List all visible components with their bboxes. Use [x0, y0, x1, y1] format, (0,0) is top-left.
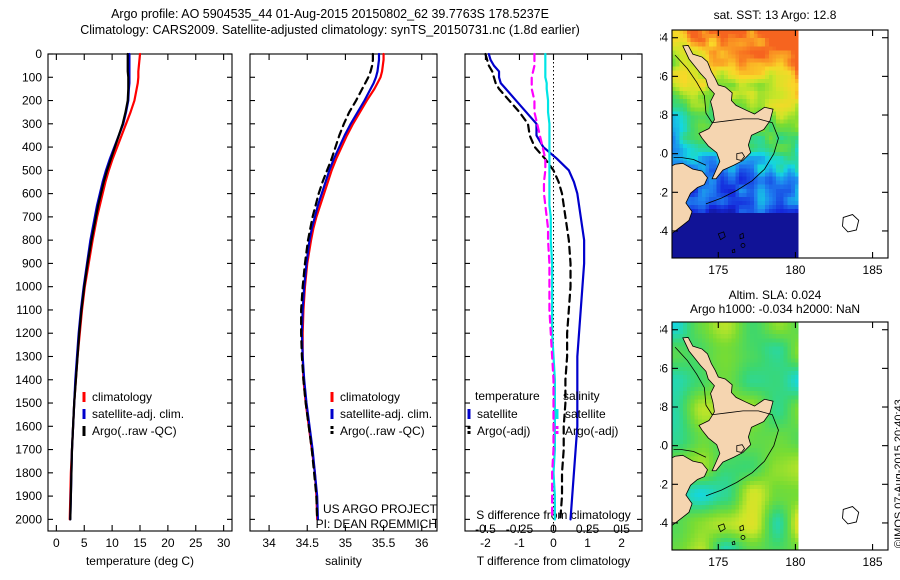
- svg-text:temperature (deg C): temperature (deg C): [86, 554, 194, 568]
- svg-text:Argo(-adj): Argo(-adj): [565, 424, 618, 438]
- svg-text:-40: -40: [660, 439, 668, 453]
- svg-text:climatology: climatology: [92, 390, 152, 404]
- svg-text:-44: -44: [660, 224, 668, 238]
- svg-text:satellite: satellite: [477, 407, 518, 421]
- salinity-panel: 3434.53535.536salinityclimatologysatelli…: [240, 40, 455, 580]
- svg-text:0: 0: [35, 47, 42, 61]
- temperature-plot: 0100200300400500600700800900100011001200…: [0, 40, 240, 580]
- sla-map: 175180185-34-36-38-40-42-44: [660, 318, 900, 573]
- svg-text:-40: -40: [660, 147, 668, 161]
- svg-text:200: 200: [22, 94, 42, 108]
- svg-text:25: 25: [189, 536, 203, 550]
- svg-text:5: 5: [81, 536, 88, 550]
- sla-title-line-2: Argo h1000: -0.034 h2000: NaN: [660, 302, 890, 316]
- svg-text:-42: -42: [660, 477, 668, 491]
- argo-profile-figure: Argo profile: AO 5904535_44 01-Aug-2015 …: [0, 0, 900, 580]
- svg-text:1500: 1500: [15, 396, 42, 410]
- sla-map-panel: Altim. SLA: 0.024 Argo h1000: -0.034 h20…: [660, 288, 900, 580]
- svg-text:2000: 2000: [15, 512, 42, 526]
- svg-text:1400: 1400: [15, 373, 42, 387]
- difference-plot: -2-1012S difference from climatology-0.5…: [455, 40, 660, 580]
- svg-text:700: 700: [22, 210, 42, 224]
- svg-text:500: 500: [22, 163, 42, 177]
- svg-text:1: 1: [584, 536, 591, 550]
- svg-text:-36: -36: [660, 361, 668, 375]
- svg-text:-42: -42: [660, 185, 668, 199]
- svg-text:300: 300: [22, 117, 42, 131]
- svg-text:1900: 1900: [15, 489, 42, 503]
- svg-text:10: 10: [105, 536, 119, 550]
- svg-text:1200: 1200: [15, 326, 42, 340]
- svg-text:30: 30: [217, 536, 231, 550]
- title-line-2: Climatology: CARS2009. Satellite-adjuste…: [0, 22, 660, 38]
- svg-text:T difference from climatology: T difference from climatology: [477, 554, 631, 568]
- svg-text:-34: -34: [660, 31, 668, 45]
- svg-text:satellite-adj. clim.: satellite-adj. clim.: [92, 407, 184, 421]
- temperature-panel: 0100200300400500600700800900100011001200…: [0, 40, 240, 580]
- svg-text:36: 36: [415, 536, 429, 550]
- svg-text:satellite: satellite: [565, 407, 606, 421]
- svg-text:-38: -38: [660, 108, 668, 122]
- svg-text:15: 15: [133, 536, 147, 550]
- svg-text:180: 180: [785, 263, 805, 277]
- svg-text:100: 100: [22, 70, 42, 84]
- svg-text:-34: -34: [660, 323, 668, 337]
- svg-text:salinity: salinity: [563, 389, 600, 403]
- difference-panel: -2-1012S difference from climatology-0.5…: [455, 40, 660, 580]
- svg-text:0.5: 0.5: [613, 522, 630, 536]
- svg-text:-0.25: -0.25: [506, 522, 534, 536]
- svg-text:20: 20: [161, 536, 175, 550]
- sla-title-line-1: Altim. SLA: 0.024: [660, 288, 890, 302]
- svg-text:175: 175: [708, 555, 728, 569]
- title-line-1: Argo profile: AO 5904535_44 01-Aug-2015 …: [0, 6, 660, 22]
- sst-map: 175180185-34-36-38-40-42-44: [660, 26, 900, 286]
- imos-credit: ©IMOS 07-Aug-2015 20:40:43: [893, 399, 900, 548]
- svg-text:Argo(..raw -QC): Argo(..raw -QC): [340, 424, 425, 438]
- svg-text:35.5: 35.5: [372, 536, 396, 550]
- svg-text:1100: 1100: [16, 303, 42, 317]
- svg-text:400: 400: [22, 140, 42, 154]
- svg-text:1000: 1000: [15, 280, 42, 294]
- svg-text:600: 600: [22, 187, 42, 201]
- svg-text:34.5: 34.5: [296, 536, 320, 550]
- svg-text:900: 900: [22, 256, 42, 270]
- svg-text:Argo(..raw -QC): Argo(..raw -QC): [92, 424, 177, 438]
- svg-text:-2: -2: [480, 536, 491, 550]
- svg-text:185: 185: [863, 263, 883, 277]
- svg-text:35: 35: [339, 536, 353, 550]
- sla-map-title: Altim. SLA: 0.024 Argo h1000: -0.034 h20…: [660, 288, 890, 316]
- svg-text:1800: 1800: [15, 466, 42, 480]
- svg-text:185: 185: [863, 555, 883, 569]
- svg-text:-0.5: -0.5: [475, 522, 496, 536]
- sst-map-title: sat. SST: 13 Argo: 12.8: [660, 8, 890, 22]
- svg-text:34: 34: [262, 536, 276, 550]
- svg-text:0: 0: [53, 536, 60, 550]
- svg-text:Argo(-adj): Argo(-adj): [477, 424, 530, 438]
- svg-text:1700: 1700: [15, 443, 42, 457]
- svg-text:0: 0: [550, 536, 557, 550]
- svg-text:PI: DEAN ROEMMICH: PI: DEAN ROEMMICH: [316, 517, 437, 531]
- svg-text:climatology: climatology: [340, 390, 400, 404]
- svg-text:1600: 1600: [15, 419, 42, 433]
- svg-text:salinity: salinity: [325, 554, 362, 568]
- svg-text:-38: -38: [660, 400, 668, 414]
- svg-text:US ARGO PROJECT: US ARGO PROJECT: [323, 502, 438, 516]
- svg-text:2: 2: [618, 536, 625, 550]
- svg-text:175: 175: [708, 263, 728, 277]
- salinity-plot: 3434.53535.536salinityclimatologysatelli…: [240, 40, 455, 580]
- svg-text:-36: -36: [660, 69, 668, 83]
- svg-text:180: 180: [785, 555, 805, 569]
- svg-text:-1: -1: [514, 536, 525, 550]
- svg-text:0: 0: [550, 522, 557, 536]
- svg-text:satellite-adj. clim.: satellite-adj. clim.: [340, 407, 432, 421]
- svg-text:temperature: temperature: [475, 389, 540, 403]
- figure-title: Argo profile: AO 5904535_44 01-Aug-2015 …: [0, 6, 660, 38]
- svg-text:800: 800: [22, 233, 42, 247]
- svg-text:0.25: 0.25: [576, 522, 600, 536]
- svg-text:1300: 1300: [15, 349, 42, 363]
- sst-map-panel: sat. SST: 13 Argo: 12.8 175180185-34-36-…: [660, 8, 900, 288]
- svg-text:-44: -44: [660, 516, 668, 530]
